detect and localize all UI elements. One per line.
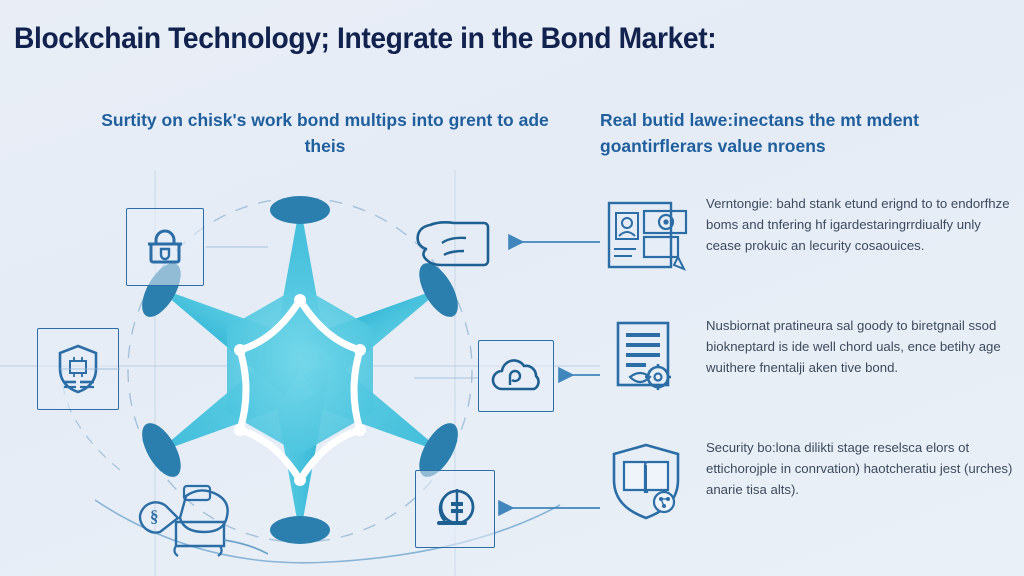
left-column-subheading: Surtity on chisk's work bond multips int… xyxy=(100,108,550,159)
right-column-subheading: Real butid lawe:inectans the mt mdent go… xyxy=(600,108,1024,159)
hand-icon xyxy=(410,205,502,275)
coin-icon-tile[interactable] xyxy=(415,470,495,548)
cloud-icon-tile[interactable] xyxy=(478,340,554,412)
list-item: Security bo:lona dilikti stage reselsca … xyxy=(600,434,1024,530)
list-item: Verntongie: bahd stank etund erignd to t… xyxy=(600,190,1024,286)
lock-icon-tile[interactable] xyxy=(126,208,204,286)
list-item-text: Security bo:lona dilikti stage reselsca … xyxy=(696,434,1024,501)
money-bag-icon-wrap[interactable]: § xyxy=(128,478,270,575)
list-item: Nusbiornat pratineura sal goody to biret… xyxy=(600,312,1024,408)
row-icon-slot[interactable] xyxy=(600,312,696,408)
lock-icon xyxy=(142,224,188,270)
hand-icon-wrap[interactable] xyxy=(410,205,502,280)
svg-text:§: § xyxy=(150,507,159,526)
document-gear-icon xyxy=(606,321,690,399)
shield-chip-icon xyxy=(50,341,106,397)
money-bag-icon: § xyxy=(128,478,270,570)
row-icon-slot[interactable] xyxy=(600,434,696,530)
list-item-text: Nusbiornat pratineura sal goody to biret… xyxy=(696,312,1024,379)
shield-chip-icon-tile[interactable] xyxy=(37,328,119,410)
shield-book-icon xyxy=(606,442,690,522)
row-icon-slot[interactable] xyxy=(600,190,696,286)
benefits-list: Verntongie: bahd stank etund erignd to t… xyxy=(600,190,1024,556)
page-title: Blockchain Technology; Integrate in the … xyxy=(14,22,716,56)
cloud-icon xyxy=(488,355,544,397)
id-card-document-icon xyxy=(606,199,690,277)
coin-icon xyxy=(429,483,481,535)
list-item-text: Verntongie: bahd stank etund erignd to t… xyxy=(696,190,1024,257)
